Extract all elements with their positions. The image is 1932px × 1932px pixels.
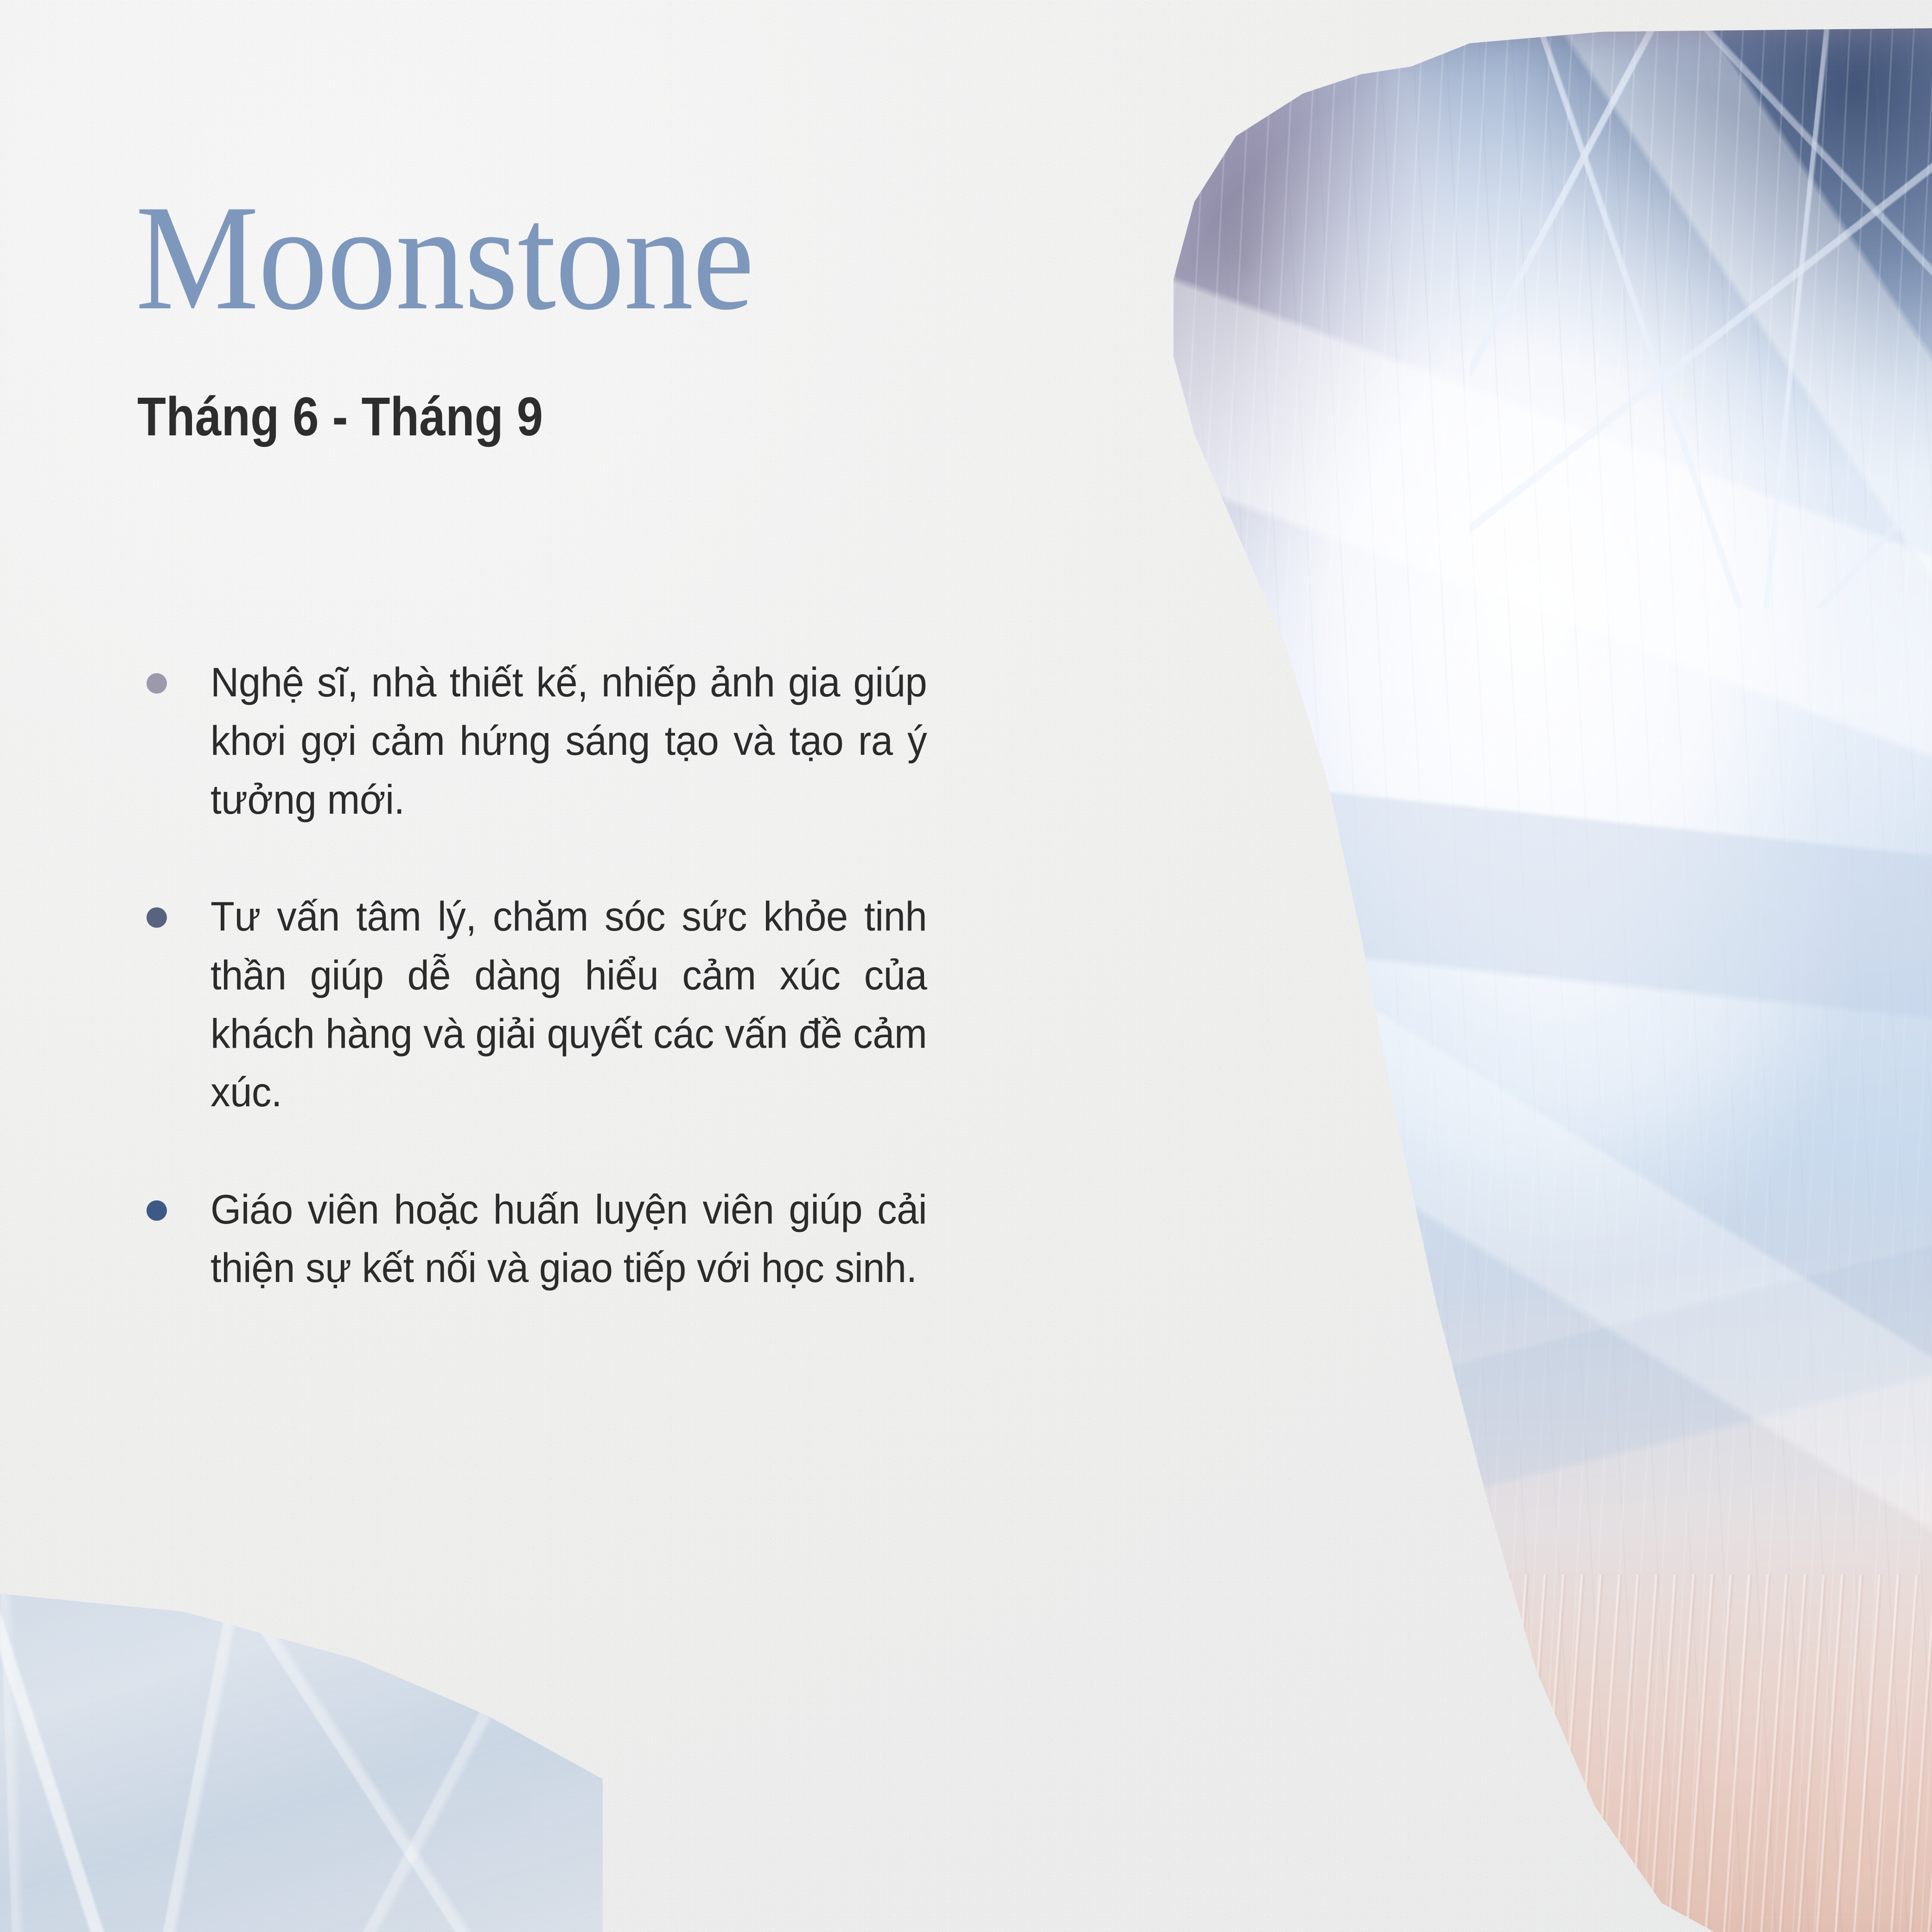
list-item-text: Giáo viên hoặc huấn luyện viên giúp cải … [210,1180,927,1297]
page-subtitle: Tháng 6 - Tháng 9 [137,389,543,444]
list-item: Giáo viên hoặc huấn luyện viên giúp cải … [135,1180,961,1297]
list-item: Tư vấn tâm lý, chăm sóc sức khỏe tinh th… [135,887,961,1122]
list-item-text: Tư vấn tâm lý, chăm sóc sức khỏe tinh th… [210,887,927,1122]
bullet-dot-icon [147,673,167,694]
text-column: Moonstone Tháng 6 - Tháng 9 Nghệ sĩ, nhà… [135,0,965,1932]
bullet-dot-icon [147,907,167,928]
bullet-dot-icon [147,1200,167,1221]
poster-canvas: Moonstone Tháng 6 - Tháng 9 Nghệ sĩ, nhà… [0,0,1932,1932]
page-title: Moonstone [135,182,753,333]
list-item-text: Nghệ sĩ, nhà thiết kế, nhiếp ảnh gia giú… [210,653,927,829]
benefit-list: Nghệ sĩ, nhà thiết kế, nhiếp ảnh gia giú… [135,653,961,1297]
list-item: Nghệ sĩ, nhà thiết kế, nhiếp ảnh gia giú… [135,653,961,829]
